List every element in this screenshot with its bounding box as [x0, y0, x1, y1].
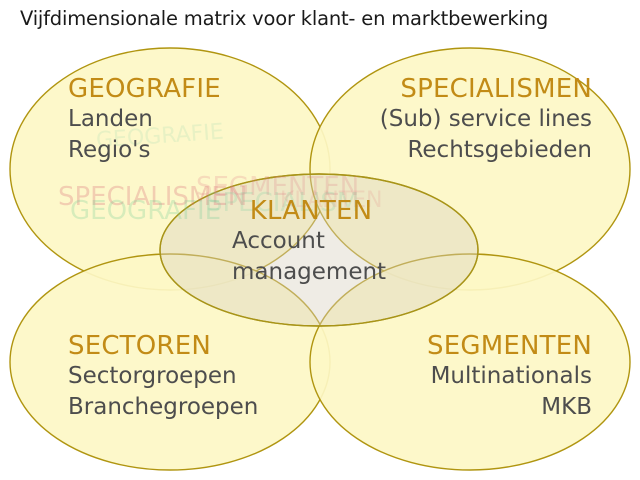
lobe-line: (Sub) service lines: [380, 104, 592, 135]
lobe-label-specialismen: SPECIALISMEN (Sub) service lines Rechtsg…: [380, 74, 592, 166]
lobe-line: Multinationals: [427, 361, 592, 392]
lobe-line: Rechtsgebieden: [380, 135, 592, 166]
lobe-label-geografie: GEOGRAFIE Landen Regio's: [68, 74, 221, 166]
lobe-heading: SECTOREN: [68, 331, 258, 361]
lobe-label-sectoren: SECTOREN Sectorgroepen Branchegroepen: [68, 331, 258, 423]
lobe-line: Landen: [68, 104, 221, 135]
lobe-line: management: [232, 257, 386, 288]
lobe-heading: SPECIALISMEN: [380, 74, 592, 104]
lobe-heading: GEOGRAFIE: [68, 74, 221, 104]
lobe-line: Regio's: [68, 135, 221, 166]
lobe-label-segmenten: SEGMENTEN Multinationals MKB: [427, 331, 592, 423]
lobe-label-klanten: KLANTEN Account management: [232, 196, 386, 288]
lobe-line: MKB: [427, 392, 592, 423]
lobe-heading: KLANTEN: [236, 196, 386, 226]
diagram-canvas: Vijfdimensionale matrix voor klant- en m…: [0, 0, 640, 480]
lobe-line: Sectorgroepen: [68, 361, 258, 392]
lobe-line: Branchegroepen: [68, 392, 258, 423]
lobe-heading: SEGMENTEN: [427, 331, 592, 361]
lobe-line: Account: [232, 226, 386, 257]
